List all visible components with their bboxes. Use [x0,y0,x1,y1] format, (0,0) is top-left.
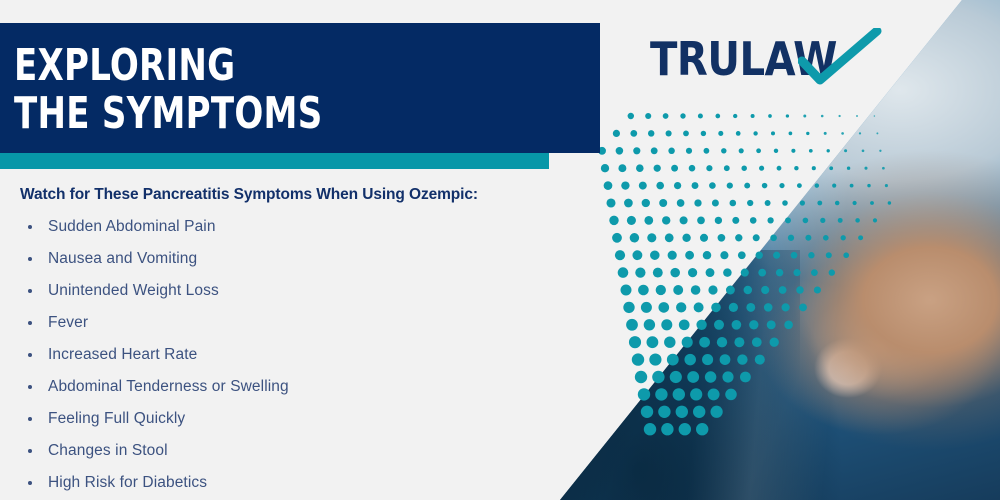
halftone-dot [739,148,744,153]
halftone-dot [733,114,737,118]
halftone-dot [803,115,806,118]
halftone-dot [692,182,699,189]
halftone-dot [663,113,669,119]
halftone-dot [680,216,688,224]
bullet-icon [28,417,32,421]
halftone-dot [786,114,789,117]
halftone-dot [759,166,764,171]
halftone-dot [630,233,639,242]
halftone-dot [751,114,755,118]
list-item: Unintended Weight Loss [20,275,540,307]
halftone-dot [691,285,701,295]
halftone-dot [644,216,653,225]
list-item: High Risk for Diabetics [20,467,540,499]
halftone-dot [762,183,768,189]
halftone-dot [645,113,651,119]
halftone-dot [644,319,655,330]
halftone-dot [774,149,778,153]
halftone-dot [632,353,644,365]
halftone-dot [641,302,652,313]
bullet-icon [28,385,32,389]
halftone-dot [651,147,658,154]
halftone-dot [720,251,728,259]
halftone-dot [683,131,689,137]
bullet-icon [28,481,32,485]
halftone-dot [753,234,760,241]
halftone-dot [664,336,675,347]
halftone-dot [635,267,645,277]
bullet-icon [28,225,32,229]
list-item: Sudden Abdominal Pain [20,211,540,243]
halftone-dot [723,268,732,277]
halftone-dot [791,149,795,153]
halftone-dot [636,164,644,172]
list-item-label: Changes in Stool [48,442,168,459]
halftone-dot [777,166,782,171]
halftone-dot [706,268,715,277]
halftone-dot [626,319,638,331]
halftone-dot [606,198,615,207]
halftone-dot [756,148,761,153]
list-item: Nausea and Vomiting [20,243,540,275]
halftone-dot [601,164,609,172]
halftone-dot [628,113,634,119]
halftone-dot [638,285,649,296]
halftone-dot [673,285,683,295]
halftone-dot [686,148,692,154]
halftone-dot [665,233,674,242]
bullet-icon [28,289,32,293]
halftone-dot [627,216,636,225]
title-accent-bar [0,153,549,169]
halftone-dot [618,164,626,172]
halftone-dot [838,115,840,117]
halftone-dot [688,268,697,277]
halftone-dot [827,149,830,152]
symptom-list: Sudden Abdominal PainNausea and Vomiting… [20,211,540,499]
halftone-dot [812,166,816,170]
halftone-dot [744,183,750,189]
halftone-dot [706,165,712,171]
list-item: Changes in Stool [20,435,540,467]
halftone-dot [649,354,661,366]
page-title: EXPLORING THE SYMPTOMS [14,42,322,138]
halftone-dot [633,147,640,154]
halftone-dot [647,336,659,348]
halftone-dot [642,199,650,207]
infographic-canvas: EXPLORING THE SYMPTOMS TRULAW Watch for … [0,0,1000,500]
halftone-dot [750,217,757,224]
halftone-dot [794,166,798,170]
halftone-dot [679,319,690,330]
list-item-label: Abdominal Tenderness or Swelling [48,378,289,395]
halftone-dot [671,165,678,172]
list-heading: Watch for These Pancreatitis Symptoms Wh… [20,186,478,204]
halftone-dot [612,233,622,243]
halftone-dot [700,234,708,242]
halftone-dot [668,148,675,155]
list-item-label: Sudden Abdominal Pain [48,218,216,235]
halftone-dot [670,268,680,278]
halftone-dot [701,131,706,136]
list-item-label: Unintended Weight Loss [48,282,219,299]
halftone-dot [703,251,711,259]
list-item-label: Increased Heart Rate [48,346,197,363]
list-item: Fever [20,307,540,339]
halftone-dot [654,165,661,172]
halftone-dot [613,130,620,137]
halftone-dot [694,199,701,206]
halftone-dot [615,250,625,260]
halftone-dot [709,182,716,189]
halftone-dot [656,285,666,295]
halftone-dot [618,267,629,278]
halftone-dot [730,200,737,207]
halftone-dot [662,216,670,224]
photo-shadow-wedge [540,250,800,500]
halftone-dot [666,130,672,136]
halftone-dot [629,336,641,348]
list-item-label: Feeling Full Quickly [48,410,185,427]
halftone-dot [616,147,624,155]
halftone-dot [623,302,634,313]
halftone-dot [741,165,747,171]
halftone-dot [648,130,654,136]
list-item-label: Nausea and Vomiting [48,250,197,267]
halftone-dot [824,132,827,135]
bullet-icon [28,257,32,261]
halftone-dot [779,183,784,188]
halftone-dot [694,302,704,312]
halftone-dot [736,131,741,136]
list-item-label: High Risk for Diabetics [48,474,207,491]
halftone-dot [676,302,686,312]
bullet-icon [28,449,32,453]
halftone-dot [718,234,726,242]
halftone-dot [609,216,618,225]
halftone-dot [768,114,772,118]
halftone-dot [767,217,773,223]
halftone-dot [841,132,844,135]
halftone-dot [697,217,705,225]
halftone-dot [712,200,719,207]
halftone-dot [715,114,720,119]
halftone-dot [821,115,824,118]
halftone-dot [704,148,710,154]
halftone-dot [797,183,802,188]
halftone-dot [635,371,647,383]
halftone-dot [698,113,703,118]
halftone-dot [661,319,672,330]
halftone-dot [715,217,722,224]
halftone-dot [856,115,858,117]
halftone-dot [653,268,663,278]
halftone-dot [727,182,733,188]
halftone-dot [771,131,775,135]
title-banner: EXPLORING THE SYMPTOMS [0,23,600,153]
halftone-dot [621,285,632,296]
halftone-dot [656,182,664,190]
halftone-dot [685,251,694,260]
halftone-dot [689,165,696,172]
bullet-icon [28,353,32,357]
halftone-dot [682,234,690,242]
halftone-dot [809,149,813,153]
list-item: Feeling Full Quickly [20,403,540,435]
halftone-dot [674,182,681,189]
halftone-dot [735,234,742,241]
halftone-dot [747,200,753,206]
list-item: Increased Heart Rate [20,339,540,371]
halftone-dot [738,251,746,259]
halftone-dot [668,251,677,260]
halftone-dot [677,199,685,207]
list-item-label: Fever [48,314,88,331]
halftone-dot [806,132,809,135]
halftone-dot [658,302,669,313]
halftone-dot [765,200,771,206]
halftone-dot [721,148,726,153]
trulaw-logo[interactable]: TRULAW [650,34,880,92]
halftone-dot [789,132,793,136]
halftone-dot [621,181,629,189]
halftone-dot [782,200,788,206]
halftone-dot [639,182,647,190]
halftone-dot [624,199,633,208]
halftone-dot [630,130,637,137]
halftone-dot [604,181,613,190]
halftone-dot [724,165,730,171]
halftone-dot [732,217,739,224]
halftone-dot [647,233,656,242]
halftone-dot [680,113,685,118]
halftone-dot [753,131,757,135]
halftone-dot [718,131,723,136]
checkmark-icon [798,28,884,90]
halftone-dot [708,285,717,294]
list-item: Abdominal Tenderness or Swelling [20,371,540,403]
halftone-dot [650,250,660,260]
halftone-dot [632,250,642,260]
bullet-icon [28,321,32,325]
halftone-dot [659,199,667,207]
